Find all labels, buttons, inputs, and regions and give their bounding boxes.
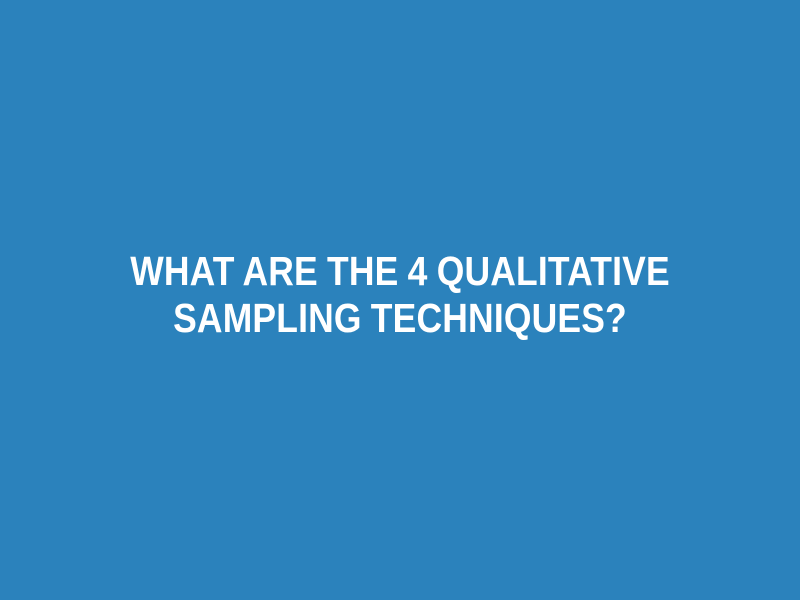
hero-title-container: WHAT ARE THE 4 QUALITATIVE SAMPLING TECH… [50,248,750,342]
page-title: WHAT ARE THE 4 QUALITATIVE SAMPLING TECH… [97,248,703,342]
hero-banner: WHAT ARE THE 4 QUALITATIVE SAMPLING TECH… [0,0,800,600]
